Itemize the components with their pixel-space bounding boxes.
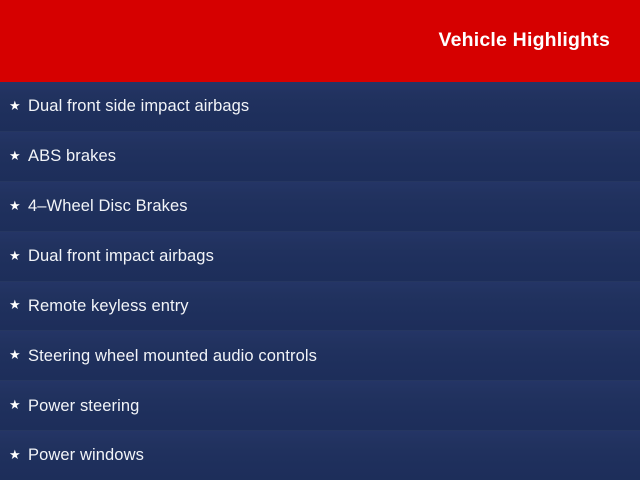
highlights-list: ★ Dual front side impact airbags ★ ABS b… <box>0 82 640 480</box>
list-item: ★ ABS brakes <box>0 131 640 181</box>
list-item-label: ABS brakes <box>28 147 640 165</box>
star-bullet-icon: ★ <box>9 298 28 311</box>
star-bullet-icon: ★ <box>9 149 28 162</box>
star-bullet-icon: ★ <box>9 348 28 361</box>
star-bullet-icon: ★ <box>9 448 28 461</box>
list-item: ★ 4–Wheel Disc Brakes <box>0 181 640 231</box>
list-item: ★ Power steering <box>0 380 640 430</box>
list-item: ★ Remote keyless entry <box>0 281 640 331</box>
list-item: ★ Dual front side impact airbags <box>0 82 640 131</box>
list-item: ★ Steering wheel mounted audio controls <box>0 330 640 380</box>
list-item: ★ Dual front impact airbags <box>0 231 640 281</box>
star-bullet-icon: ★ <box>9 199 28 212</box>
star-bullet-icon: ★ <box>9 99 28 112</box>
list-item-label: Power windows <box>28 446 640 464</box>
slide-header: Vehicle Highlights <box>0 0 640 82</box>
star-bullet-icon: ★ <box>9 398 28 411</box>
star-bullet-icon: ★ <box>9 249 28 262</box>
page-title: Vehicle Highlights <box>438 31 610 51</box>
list-item-label: Dual front impact airbags <box>28 247 640 265</box>
list-item-label: Remote keyless entry <box>28 297 640 315</box>
vehicle-highlights-slide: Vehicle Highlights ★ Dual front side imp… <box>0 0 640 480</box>
list-item-label: Power steering <box>28 397 640 415</box>
list-item-label: Dual front side impact airbags <box>28 97 640 115</box>
list-item-label: 4–Wheel Disc Brakes <box>28 197 640 215</box>
list-item: ★ Power windows <box>0 430 640 480</box>
list-item-label: Steering wheel mounted audio controls <box>28 347 640 365</box>
